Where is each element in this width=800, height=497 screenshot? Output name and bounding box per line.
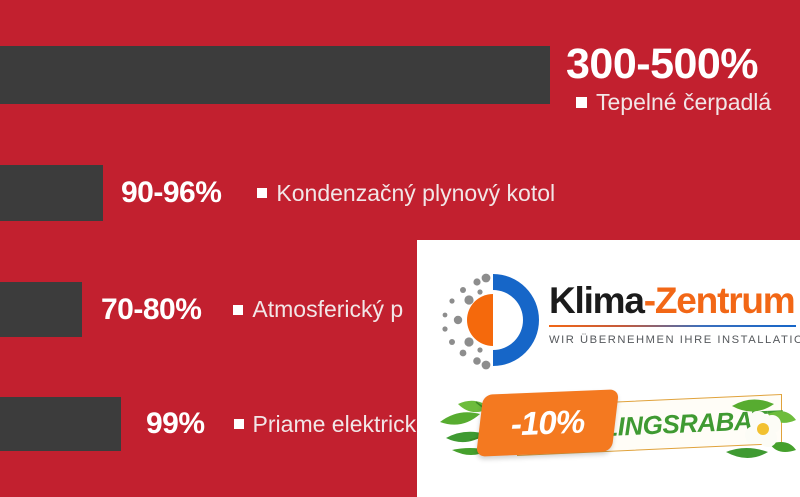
legend-label: Tepelné čerpadlá [596,89,771,115]
chart-row: 99% Priame elektricke [0,397,429,451]
promo-banner: 300-500% Tepelné čerpadlá 90-96% Kondenz… [0,0,800,497]
spring-discount-badge[interactable]: FRÜHLINGSRABATT -10% [432,388,792,468]
bar-value-label: 70-80% [101,293,201,327]
legend-swatch-icon [234,419,244,429]
legend-entry: Priame elektricke [234,411,429,438]
chart-row: 90-96% Kondenzačný plynový kotol [0,165,555,221]
brand-tagline: WIR ÜBERNEHMEN IHRE INSTALLATION [549,334,797,346]
brand-name-second: Zentrum [655,280,795,321]
legend-swatch-icon [233,305,243,315]
discount-value: -10% [478,390,616,457]
bar-row-labels: 300-500% Tepelné čerpadlá [566,40,771,115]
brand-name-separator: - [644,280,655,321]
brand-overlay-panel: Klima-Zentrum WIR ÜBERNEHMEN IHRE INSTAL… [417,240,800,497]
flower-icon [712,390,798,470]
legend-entry: Atmosferický p [233,296,403,323]
bar-value-label: 99% [146,407,205,441]
brand-name-first: Klima [549,280,644,321]
bar-direct-electric-heating [0,397,121,451]
klima-zentrum-logo[interactable]: Klima-Zentrum WIR ÜBERNEHMEN IHRE INSTAL… [427,262,797,377]
bar-condensing-gas-boiler [0,165,103,221]
bar-value-label: 90-96% [121,176,221,210]
discount-tab: -10% [476,389,619,456]
chart-row: 300-500% Tepelné čerpadlá [0,46,800,104]
legend-label: Priame elektricke [253,411,429,438]
legend-entry: Tepelné čerpadlá [576,89,771,115]
legend-label: Atmosferický p [252,296,403,323]
logo-wordmark: Klima-Zentrum WIR ÜBERNEHMEN IHRE INSTAL… [549,280,797,346]
brand-divider [549,325,796,327]
legend-label: Kondenzačný plynový kotol [276,180,555,207]
bar-atmospheric-boiler [0,282,82,337]
sun-arc-logo-icon [431,266,561,374]
brand-name: Klima-Zentrum [549,280,797,322]
bar-heat-pumps [0,46,550,104]
logo-mark-svg [431,266,561,374]
legend-swatch-icon [576,97,587,108]
legend-entry: Kondenzačný plynový kotol [257,180,555,207]
legend-swatch-icon [257,188,267,198]
chart-row: 70-80% Atmosferický p [0,282,403,337]
bar-value-label: 300-500% [566,40,758,88]
